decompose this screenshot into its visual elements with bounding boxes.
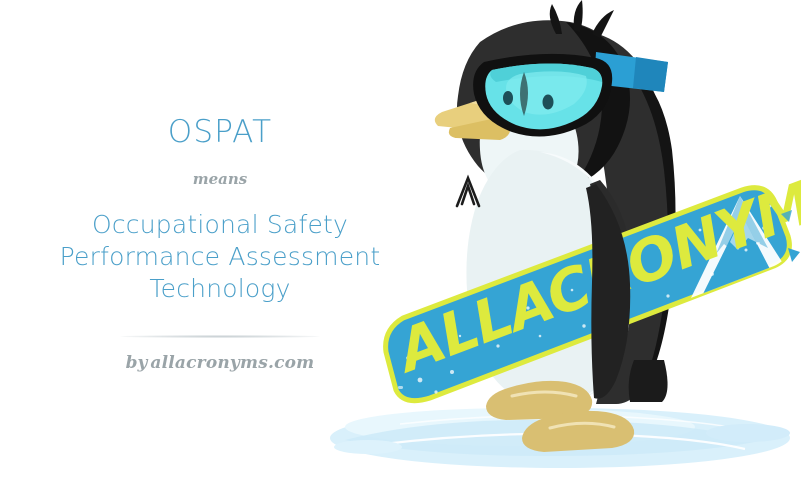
- acronym-definition-card: ALLACRONYMS OSPAT means Occupational Saf…: [0, 0, 801, 477]
- penguin-beak: [435, 94, 514, 140]
- footer-brand: byallacronyms.com: [126, 355, 315, 372]
- definition-text-block: OSPAT means Occupational Safety Performa…: [0, 0, 440, 477]
- means-label: means: [193, 172, 248, 187]
- ski-goggles: [473, 52, 668, 137]
- definition-line-2: Performance Assessment: [20, 241, 420, 273]
- footer-by-label: by: [126, 353, 148, 373]
- definition-line-1: Occupational Safety: [20, 209, 420, 241]
- belly-chevron-mark: [457, 178, 479, 206]
- penguin-belly: [457, 150, 631, 406]
- penguin-feet: [486, 381, 634, 452]
- snowboard: ALLACRONYMS: [385, 154, 801, 400]
- penguin-face: [480, 91, 579, 204]
- penguin-back-body: [570, 34, 676, 404]
- penguin: [435, 0, 676, 452]
- divider: [120, 335, 320, 338]
- penguin-front-leg-overlay: [586, 184, 630, 399]
- penguin-head: [457, 0, 630, 192]
- definition-expansion: Occupational Safety Performance Assessme…: [20, 209, 420, 305]
- penguin-flipper: [590, 180, 632, 373]
- snowboard-brand-text: ALLACRONYMS: [385, 154, 801, 386]
- footer-site-label: allacronyms.com: [150, 353, 314, 373]
- definition-line-3: Technology: [20, 273, 420, 305]
- acronym-title: OSPAT: [168, 117, 273, 148]
